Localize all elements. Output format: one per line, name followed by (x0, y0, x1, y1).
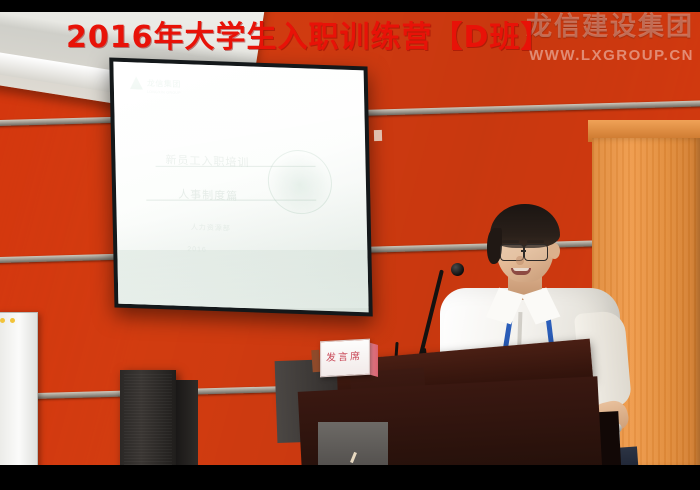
eyebrow-right (527, 240, 544, 243)
letterbox-top-bar (0, 0, 700, 12)
eyeglass-lens-right (524, 244, 548, 261)
conference-room-photo: 龙信集团 LONGXIN GROUP 新员工入职培训 人事制度篇 人力资源部 2… (0, 12, 700, 465)
photo-title-caption: 2016年大学生入职训练营【D班】 (66, 12, 551, 56)
microphone-head-icon (451, 263, 464, 276)
name-card-text: 发言席 (326, 347, 362, 364)
presenter-teeth (513, 268, 529, 271)
name-tent-card: 发言席 (320, 339, 370, 378)
letterbox-bottom-bar (0, 465, 700, 490)
eyebrow-left (502, 240, 519, 243)
eyeglass-bridge (521, 250, 526, 252)
photo-frame: 龙信集团 LONGXIN GROUP 新员工入职培训 人事制度篇 人力资源部 2… (0, 0, 700, 490)
presenter-nose (516, 256, 524, 265)
presenter-ear (549, 243, 560, 259)
